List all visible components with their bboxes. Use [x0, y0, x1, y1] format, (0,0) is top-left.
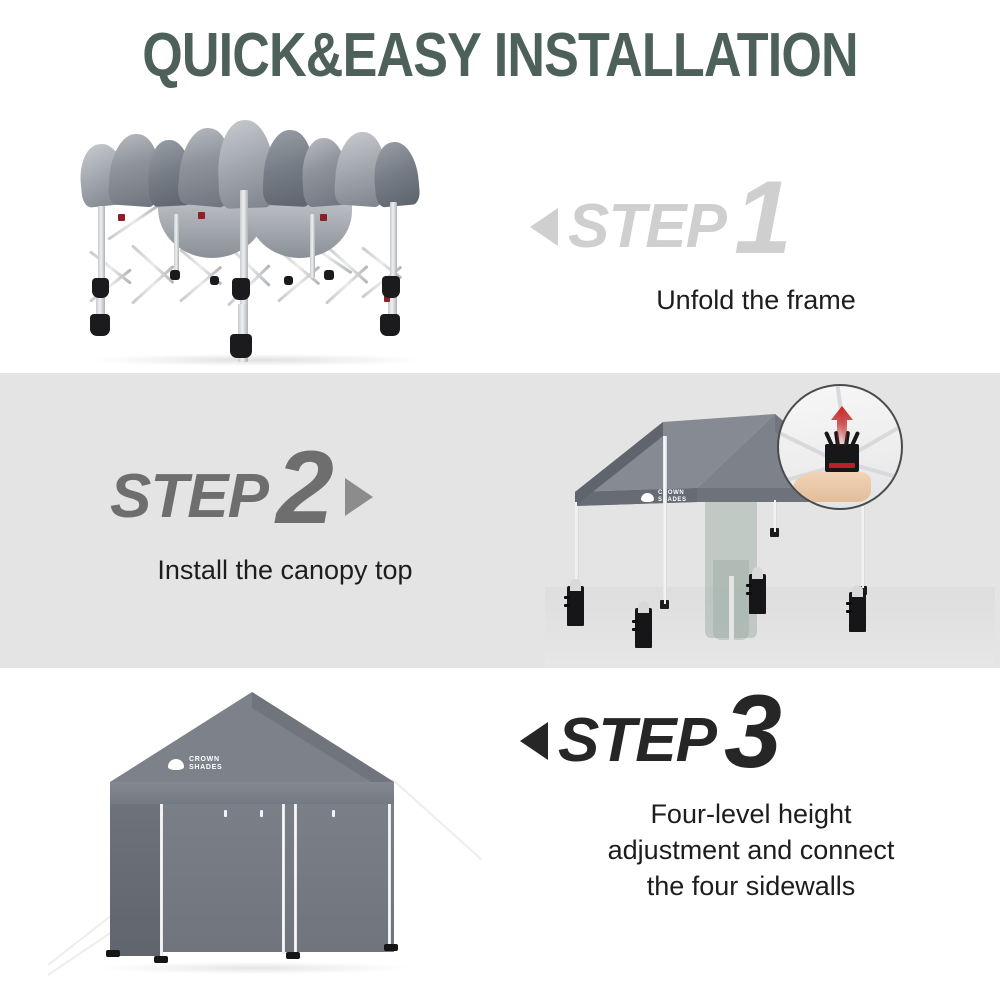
sidewall-zipper [282, 804, 285, 954]
step3-caption-line: Four-level height [546, 796, 956, 832]
weight-bag [849, 592, 866, 632]
triangle-right-icon [345, 478, 373, 516]
step2-caption: Install the canopy top [110, 552, 460, 588]
foot-wheel [382, 276, 400, 298]
weight-bag [749, 574, 766, 614]
weight-bag [635, 608, 652, 648]
center-truss-hub [825, 444, 859, 472]
foot-wheel [380, 314, 400, 336]
step2-heading: STEP 2 [110, 456, 530, 538]
canopy-valance [110, 782, 394, 804]
foot-wheel [92, 278, 109, 298]
step1-block: STEP 1 Unfold the frame [530, 186, 960, 318]
sidewall-zipper [294, 804, 297, 954]
sidewall-side [110, 804, 162, 956]
canopy-foot [384, 944, 398, 951]
foot-wheel [90, 314, 110, 336]
canopy-roof-svg [545, 380, 995, 665]
step2-number: 2 [276, 447, 331, 529]
step2-label: STEP [110, 466, 268, 528]
sidewall-zipper [160, 804, 163, 956]
step1-number: 1 [734, 177, 789, 259]
infographic-page: QUICK&EASY INSTALLATION [0, 0, 1000, 1000]
step3-block: STEP 3 Four-level height adjustment and … [520, 700, 960, 904]
crown-emblem-icon [641, 493, 654, 502]
step3-photo: CROWNSHADES [48, 686, 488, 982]
canopy-foot [286, 952, 300, 959]
foot-wheel [230, 334, 252, 358]
sidewall-zipper [388, 804, 391, 950]
page-title: QUICK&EASY INSTALLATION [80, 24, 920, 88]
step3-number: 3 [724, 691, 779, 773]
brand-text: CROWNSHADES [189, 756, 222, 772]
step1-heading: STEP 1 [530, 186, 960, 268]
step1-label: STEP [568, 196, 726, 258]
triangle-left-icon [530, 208, 558, 246]
canopy-foot [106, 950, 120, 957]
step3-caption: Four-level height adjustment and connect… [546, 796, 956, 904]
ground-shadow [92, 354, 422, 366]
triangle-left-icon [520, 722, 548, 760]
step3-caption-line: the four sidewalls [546, 868, 956, 904]
inset-callout-circle [777, 384, 903, 510]
step1-caption: Unfold the frame [556, 282, 956, 318]
step1-illustration [62, 118, 462, 368]
step1-photo [62, 118, 462, 368]
foot-wheel [232, 278, 250, 300]
step2-photo: CROWNSHADES [545, 380, 995, 665]
step2-block: STEP 2 Install the canopy top [110, 456, 530, 588]
weight-bag [567, 586, 584, 626]
red-latch-icon [829, 463, 855, 468]
hand-icon [793, 472, 871, 502]
step3-heading: STEP 3 [520, 700, 960, 782]
step3-caption-line: adjustment and connect [546, 832, 956, 868]
brand-logo-step3: CROWNSHADES [168, 756, 222, 772]
canopy-foot [154, 956, 168, 963]
crown-emblem-icon [168, 759, 184, 770]
up-arrow-icon [831, 406, 853, 446]
step3-label: STEP [558, 710, 716, 772]
